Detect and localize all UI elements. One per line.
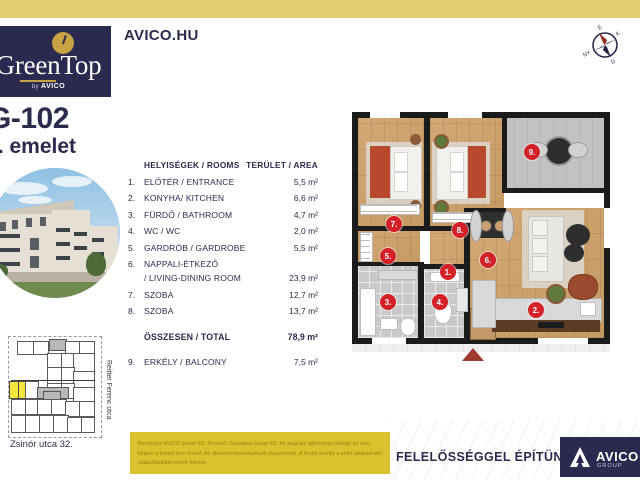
site-plan-label-right: Reitter Ferenc utca — [105, 360, 112, 420]
avico-group-logo: AVICO GROUP — [560, 437, 640, 477]
table-row: / LIVING-DINING ROOM 23,9 m² — [128, 273, 318, 290]
row-room-name: SZOBA — [144, 290, 246, 307]
table-balcony-row: 9. ERKÉLY / BALCONY 7,5 m² — [128, 357, 318, 374]
row-number: 5. — [128, 243, 144, 260]
row-area: 7,5 m² — [246, 357, 318, 374]
row-number: 7. — [128, 290, 144, 307]
table-row: 6. NAPPALI-ÉTKEZŐ — [128, 259, 318, 273]
svg-text:É: É — [597, 24, 604, 32]
logo-underline — [20, 80, 56, 82]
row-number: 9. — [128, 357, 144, 374]
row-area: 13,7 m² — [246, 306, 318, 323]
row-number: 6. — [128, 259, 144, 273]
row-room-name: ERKÉLY / BALCONY — [144, 357, 246, 374]
table-row: 7. SZOBA 12,7 m² — [128, 290, 318, 307]
row-area: 4,7 m² — [246, 210, 318, 227]
greentop-logo: GreenTop by AVICO — [0, 26, 111, 97]
total-area: 78,9 m² — [246, 332, 318, 349]
room-marker-7[interactable]: 7. — [386, 216, 402, 232]
row-room-name: GARDRÓB / GARDROBE — [144, 243, 246, 260]
table-row: 3. FÜRDŐ / BATHROOM 4,7 m² — [128, 210, 318, 227]
site-plan: XIII. kerület Reitter Ferenc utca Zsinór… — [8, 336, 100, 444]
svg-text:D: D — [610, 59, 616, 66]
footer-disclaimer-box: Beruházó: AVICO Invest Kft. Tervező: Cas… — [130, 432, 390, 474]
table-row: 2. KONYHA/ KITCHEN 6,6 m² — [128, 193, 318, 210]
table-row: 8. SZOBA 13,7 m² — [128, 306, 318, 323]
logo-byline: by AVICO — [0, 83, 111, 90]
floor-plan: 5. 3. 4. 1. 2. 6. 7. 8. 9. — [352, 112, 610, 352]
row-area: 2,0 m² — [246, 226, 318, 243]
row-room-name: ELŐTÉR / ENTRANCE — [144, 177, 246, 194]
footer-disclaimer-text: Beruházó: AVICO Invest Kft. Tervező: Cas… — [138, 440, 384, 469]
building-render-photo — [0, 168, 120, 298]
row-room-name: / LIVING-DINING ROOM — [144, 273, 246, 290]
table-row: 5. GARDRÓB / GARDROBE 5,5 m² — [128, 243, 318, 260]
avico-mark-icon — [568, 445, 592, 469]
logo-by-brand: AVICO — [41, 83, 65, 90]
avico-sub: GROUP — [597, 463, 623, 469]
room-marker-3[interactable]: 3. — [380, 294, 396, 310]
row-number — [128, 273, 144, 290]
floorplan-page: GreenTop by AVICO AVICO.HU É K D NY G-10… — [0, 0, 640, 480]
row-number: 8. — [128, 306, 144, 323]
row-area: 5,5 m² — [246, 243, 318, 260]
logo-wordmark: GreenTop — [0, 52, 111, 79]
svg-text:K: K — [615, 31, 621, 38]
compass-rose-icon: É K D NY — [580, 20, 630, 70]
row-room-name: WC / WC — [144, 226, 246, 243]
room-marker-2[interactable]: 2. — [528, 302, 544, 318]
room-marker-5[interactable]: 5. — [380, 248, 396, 264]
avico-name: AVICO — [596, 449, 639, 464]
site-plan-label-bottom: Zsinór utca 32. — [10, 439, 73, 450]
logo-by-text: by — [32, 84, 39, 90]
table-row: 4. WC / WC 2,0 m² — [128, 226, 318, 243]
apartment-id: G-102 — [0, 104, 69, 134]
row-area: 23,9 m² — [246, 273, 318, 290]
table-header-row: HELYISÉGEK / ROOMS TERÜLET / AREA — [128, 160, 318, 177]
row-number: 4. — [128, 226, 144, 243]
table-spacer — [128, 323, 318, 332]
row-area: 6,6 m² — [246, 193, 318, 210]
room-marker-1[interactable]: 1. — [440, 264, 456, 280]
row-area: 12,7 m² — [246, 290, 318, 307]
row-number: 2. — [128, 193, 144, 210]
apartment-floor: I. emelet — [0, 136, 76, 157]
table-row: 1. ELŐTÉR / ENTRANCE 5,5 m² — [128, 177, 318, 194]
row-number: 3. — [128, 210, 144, 227]
room-marker-6[interactable]: 6. — [480, 252, 496, 268]
row-room-name: FÜRDŐ / BATHROOM — [144, 210, 246, 227]
svg-text:NY: NY — [582, 50, 592, 59]
room-marker-4[interactable]: 4. — [432, 294, 448, 310]
row-number: 1. — [128, 177, 144, 194]
row-area — [246, 259, 318, 273]
top-gold-band — [0, 0, 640, 18]
entrance-arrow-icon — [462, 348, 484, 361]
room-marker-9[interactable]: 9. — [524, 144, 540, 160]
row-area: 5,5 m² — [246, 177, 318, 194]
row-room-name: NAPPALI-ÉTKEZŐ — [144, 259, 246, 273]
footer-slogan: FELELŐSSÉGGEL ÉPÍTÜNK — [396, 450, 572, 464]
row-room-name: SZOBA — [144, 306, 246, 323]
total-label: ÖSSZESEN / TOTAL — [144, 332, 246, 349]
header-area: TERÜLET / AREA — [246, 160, 318, 177]
table-total-row: ÖSSZESEN / TOTAL 78,9 m² — [128, 332, 318, 349]
site-plan-frame — [8, 336, 102, 438]
site-url[interactable]: AVICO.HU — [124, 27, 199, 44]
header-rooms: HELYISÉGEK / ROOMS — [144, 160, 246, 177]
rooms-table: HELYISÉGEK / ROOMS TERÜLET / AREA 1. ELŐ… — [128, 160, 318, 374]
table-spacer — [128, 348, 318, 357]
row-room-name: KONYHA/ KITCHEN — [144, 193, 246, 210]
room-marker-8[interactable]: 8. — [452, 222, 468, 238]
